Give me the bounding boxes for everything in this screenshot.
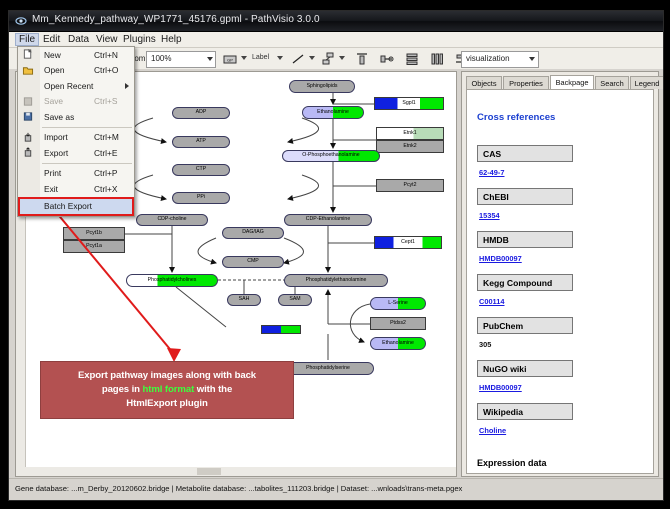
tab-legend[interactable]: Legend (630, 76, 664, 89)
menu-item-label: Import (44, 132, 68, 142)
menu-item-accel: Ctrl+N (94, 50, 118, 60)
menu-item-save-as[interactable]: Save as (18, 109, 134, 125)
pathway-node-cept1[interactable]: Cept1 (374, 236, 442, 249)
application-window: Mm_Kennedy_pathway_WP1771_45176.gpml - P… (8, 10, 664, 501)
expression-data-title: Expression data (477, 458, 547, 468)
pathway-node-pcyt1a[interactable]: Pcyt1a (63, 240, 125, 253)
menu-item-accel: Ctrl+M (94, 132, 119, 142)
pathway-node-ptdss2[interactable]: Ptdss2 (370, 317, 426, 330)
xref-value-nugo-wiki[interactable]: HMDB00097 (479, 383, 522, 392)
visualization-value: visualization (466, 54, 510, 63)
callout-highlight: html format (143, 384, 195, 395)
tab-objects[interactable]: Objects (466, 76, 502, 89)
line-dropdown-icon[interactable] (309, 56, 315, 60)
pathway-node-sphingolipids[interactable]: Sphingolipids (289, 80, 355, 93)
title-bar: Mm_Kennedy_pathway_WP1771_45176.gpml - P… (9, 11, 663, 32)
menu-item-open-recent[interactable]: Open Recent (18, 78, 134, 94)
callout-line-1: Export pathway images along with back (78, 370, 256, 381)
menu-item-accel: Ctrl+E (94, 148, 118, 158)
xref-value-wikipedia[interactable]: Choline (479, 426, 506, 435)
pathway-node-adp[interactable]: ADP (172, 107, 230, 119)
xref-source-pubchem: PubChem (477, 317, 573, 334)
datanode-dropdown-icon[interactable] (241, 56, 247, 60)
xref-source-cas: CAS (477, 145, 573, 162)
menu-item-label: Open Recent (44, 81, 93, 91)
pathway-node-sam[interactable]: SAM (278, 294, 312, 306)
pathway-node-pcyt1b[interactable]: Pcyt1b (63, 227, 125, 240)
menu-separator (42, 127, 132, 128)
align-columns-tool-icon[interactable] (429, 51, 445, 67)
tab-properties[interactable]: Properties (503, 76, 549, 89)
xref-value-hmdb[interactable]: HMDB00097 (479, 254, 522, 263)
xref-source-chebi: ChEBI (477, 188, 573, 205)
tab-backpage[interactable]: Backpage (550, 75, 594, 89)
shape-tool-icon[interactable] (320, 51, 336, 67)
menu-plugins[interactable]: Plugins (119, 33, 160, 46)
align-top-tool-icon[interactable] (354, 51, 370, 67)
pathway-node-dag-iag[interactable]: DAG/IAG (222, 227, 284, 239)
menu-file[interactable]: File (15, 33, 39, 46)
menu-item-label: Open (44, 65, 65, 75)
line-tool-icon[interactable] (290, 51, 306, 67)
pathway-node-phosphatidylserine[interactable]: Phosphatidylserine (282, 362, 374, 375)
menu-item-accel: Ctrl+O (94, 65, 118, 75)
menu-item-accel: Ctrl+P (94, 168, 118, 178)
xref-source-kegg-compound: Kegg Compound (477, 274, 573, 291)
pathway-node-ctp[interactable]: CTP (172, 164, 230, 176)
status-bar: Gene database: ...m_Derby_20120602.bridg… (9, 478, 663, 500)
import-icon (22, 132, 34, 143)
pathway-node-phosphatidylethanolamine[interactable]: Phosphatidylethanolamine (284, 274, 388, 287)
pathway-node-sgpl1[interactable]: Sgpl1 (374, 97, 444, 110)
pathway-node-etnk2[interactable]: Etnk2 (376, 140, 444, 153)
pathway-node-cdp-choline[interactable]: CDP-choline (136, 214, 208, 226)
pathway-node-cdp-ethanolamine[interactable]: CDP-Ethanolamine (284, 214, 372, 226)
menu-view[interactable]: View (92, 33, 122, 46)
menu-item-label: Export (44, 148, 68, 158)
pathway-node-phosphatidylcholines[interactable]: Phosphatidylcholines (126, 274, 218, 287)
pathway-node-ppi[interactable]: PPi (172, 192, 230, 204)
save-as-icon (22, 111, 34, 122)
side-panel-tabs: Objects Properties Backpage Search Legen… (466, 75, 658, 89)
canvas-horizontal-scrollbar[interactable] (25, 466, 456, 476)
menu-separator (42, 163, 132, 164)
label-tool-label[interactable]: Label (252, 54, 269, 61)
menu-item-label: Save as (44, 112, 74, 122)
align-middle-tool-icon[interactable] (379, 51, 395, 67)
shape-dropdown-icon[interactable] (339, 56, 345, 60)
callout-line-3: HtmlExport plugin (126, 398, 207, 409)
scrollbar-thumb[interactable] (197, 468, 221, 475)
submenu-arrow-icon (125, 83, 129, 89)
pathway-node-o-phosphoethanolamine[interactable]: O-Phosphoethanolamine (282, 150, 380, 162)
pathway-node-cmp[interactable]: CMP (222, 256, 284, 268)
xref-source-wikipedia: Wikipedia (477, 403, 573, 420)
menu-item-label: Batch Export (44, 201, 92, 211)
menu-item-print[interactable]: Print Ctrl+P (18, 166, 134, 182)
pathway-node-etnk1[interactable]: Etnk1 (376, 127, 444, 140)
pathway-node-atp[interactable]: ATP (172, 136, 230, 148)
open-folder-icon (22, 65, 34, 76)
menu-item-accel: Ctrl+S (94, 96, 118, 106)
zoom-combobox[interactable]: 100% (146, 51, 216, 68)
menu-help[interactable]: Help (157, 33, 186, 46)
callout-line-2b: with the (194, 384, 232, 395)
menu-item-label: Save (44, 96, 63, 106)
menu-item-batch-export[interactable]: Batch Export (18, 197, 134, 217)
status-bar-text: Gene database: ...m_Derby_20120602.bridg… (15, 484, 462, 493)
menu-item-import[interactable]: Import Ctrl+M (18, 130, 134, 146)
save-disabled-icon (22, 96, 34, 107)
menu-item-new[interactable]: New Ctrl+N (18, 47, 134, 63)
pathway-node-methyltransferase[interactable] (261, 325, 301, 334)
xref-source-nugo-wiki: NuGO wiki (477, 360, 573, 377)
menu-item-label: Print (44, 168, 61, 178)
tab-search[interactable]: Search (595, 76, 629, 89)
pathway-node-ethanolamine[interactable]: Ethanolamine (302, 106, 364, 119)
menu-item-label: New (44, 50, 61, 60)
label-dropdown-icon[interactable] (277, 56, 283, 60)
align-rows-tool-icon[interactable] (404, 51, 420, 67)
cross-references-title: Cross references (477, 112, 555, 123)
file-menu-dropdown[interactable]: New Ctrl+N Open Ctrl+O Open Recent Save (17, 46, 135, 217)
datanode-tool-icon[interactable]: GP (222, 51, 238, 67)
xref-value-cas[interactable]: 62-49-7 (479, 168, 504, 177)
zoom-value: 100% (151, 54, 171, 63)
xref-value-chebi[interactable]: 15354 (479, 211, 500, 220)
xref-source-hmdb: HMDB (477, 231, 573, 248)
visualization-combobox[interactable]: visualization (461, 51, 539, 68)
new-document-icon (22, 49, 34, 60)
pathway-node-pcyt2[interactable]: Pcyt2 (376, 179, 444, 192)
menu-item-exit[interactable]: Exit Ctrl+X (18, 181, 134, 197)
pathvisio-icon (15, 15, 27, 27)
menu-item-export[interactable]: Export Ctrl+E (18, 145, 134, 161)
pathway-node-l-serine[interactable]: L-Serine (370, 297, 426, 310)
menu-item-open[interactable]: Open Ctrl+O (18, 63, 134, 79)
chevron-down-icon (207, 57, 213, 61)
backpage-panel[interactable]: Cross references CAS 62-49-7 ChEBI 15354… (466, 89, 654, 474)
pathway-node-ethanolamine-2[interactable]: Ethanolamine (370, 337, 426, 350)
pathway-node-sah[interactable]: SAH (227, 294, 261, 306)
chevron-down-icon (529, 57, 535, 61)
xref-value-pubchem: 305 (479, 340, 491, 349)
menu-data[interactable]: Data (64, 33, 93, 46)
callout-line-2a: pages in (102, 384, 143, 395)
menu-item-save: Save Ctrl+S (18, 94, 134, 110)
svg-text:GP: GP (227, 58, 233, 63)
menu-edit[interactable]: Edit (39, 33, 64, 46)
xref-value-kegg-compound[interactable]: C00114 (479, 297, 504, 306)
window-title: Mm_Kennedy_pathway_WP1771_45176.gpml - P… (32, 14, 320, 25)
main-body: Choline Sphingolipids Sgpl1 Ethanolamine… (9, 69, 663, 479)
side-panel: Objects Properties Backpage Search Legen… (461, 71, 659, 477)
menu-item-label: Exit (44, 184, 58, 194)
annotation-callout: Export pathway images along with back pa… (40, 361, 294, 419)
menu-item-accel: Ctrl+X (94, 184, 118, 194)
export-icon (22, 147, 34, 158)
